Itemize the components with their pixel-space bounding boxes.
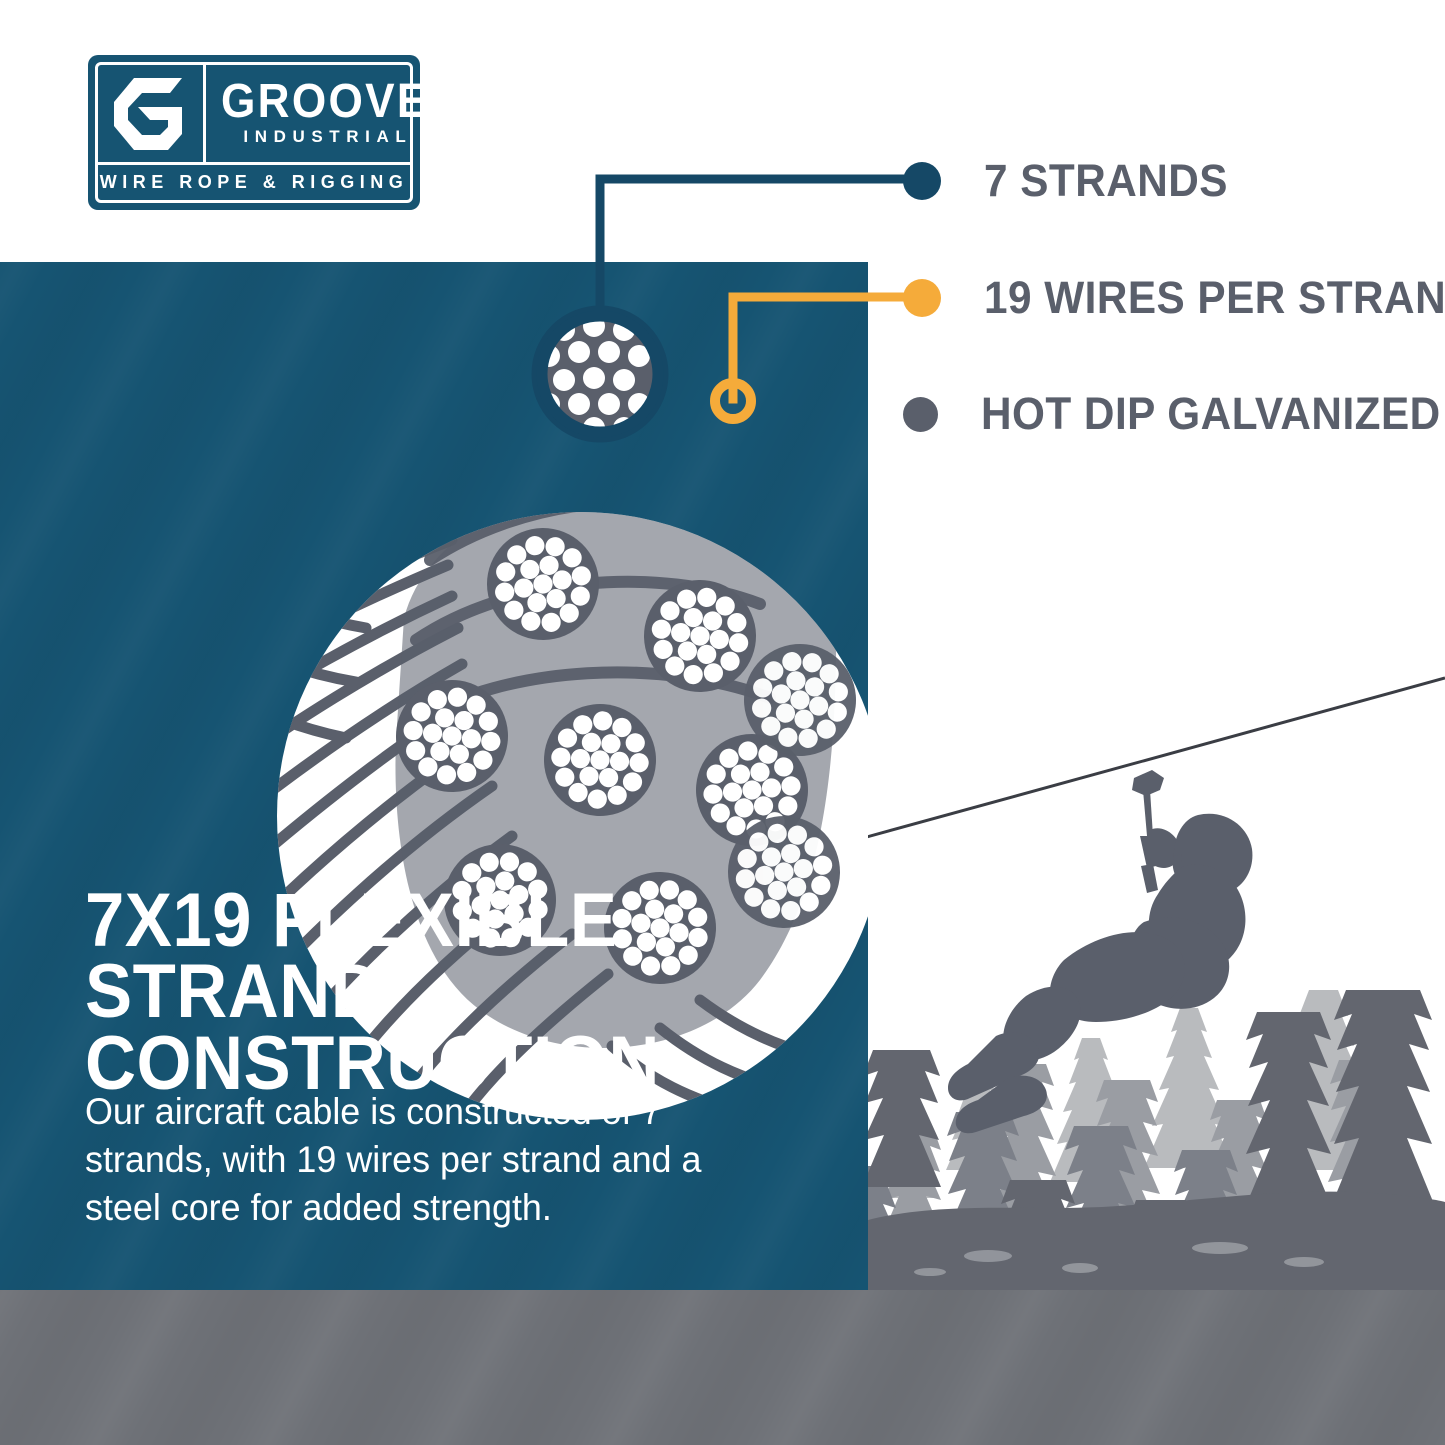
headline-block: 7X19 FLEXIBLE STRAND CONSTRUCTION bbox=[85, 885, 845, 1099]
callout-dot-wires bbox=[903, 279, 941, 317]
logo-top-row: GROOVE INDUSTRIAL bbox=[98, 65, 410, 162]
logo-tagline: WIRE ROPE & RIGGING bbox=[100, 172, 409, 193]
headline-line-1: 7X19 FLEXIBLE bbox=[85, 885, 792, 956]
callout-label-wires: 19 WIRES PER STRAND bbox=[984, 272, 1445, 324]
logo-tagline-row: WIRE ROPE & RIGGING bbox=[98, 162, 410, 200]
footer-band bbox=[0, 1290, 1445, 1445]
callout-strands: 7 STRANDS bbox=[903, 155, 1244, 207]
footer-diagonal-texture bbox=[0, 1290, 1445, 1445]
groove-g-monogram-icon bbox=[98, 65, 206, 162]
infographic-canvas: GROOVE INDUSTRIAL WIRE ROPE & RIGGING bbox=[0, 0, 1445, 1445]
logo-inner-frame: GROOVE INDUSTRIAL WIRE ROPE & RIGGING bbox=[95, 62, 413, 203]
body-copy: Our aircraft cable is constructed of 7 s… bbox=[85, 1088, 725, 1232]
zipline-scene-svg bbox=[868, 660, 1445, 1290]
headline-line-2: STRAND CONSTRUCTION bbox=[85, 956, 792, 1099]
logo-wordmark: GROOVE INDUSTRIAL bbox=[206, 65, 438, 162]
callout-label-galvanized: HOT DIP GALVANIZED bbox=[981, 388, 1441, 440]
callout-dot-strands bbox=[903, 162, 941, 200]
brand-logo: GROOVE INDUSTRIAL WIRE ROPE & RIGGING bbox=[88, 55, 420, 210]
callout-wires: 19 WIRES PER STRAND bbox=[903, 272, 1445, 324]
logo-subtitle: INDUSTRIAL bbox=[237, 127, 412, 147]
zipline-scene bbox=[868, 660, 1445, 1290]
callout-dot-galvanized bbox=[903, 397, 938, 432]
callout-galvanized: HOT DIP GALVANIZED bbox=[903, 388, 1445, 440]
logo-name: GROOVE bbox=[221, 80, 429, 124]
callout-label-strands: 7 STRANDS bbox=[984, 155, 1228, 207]
